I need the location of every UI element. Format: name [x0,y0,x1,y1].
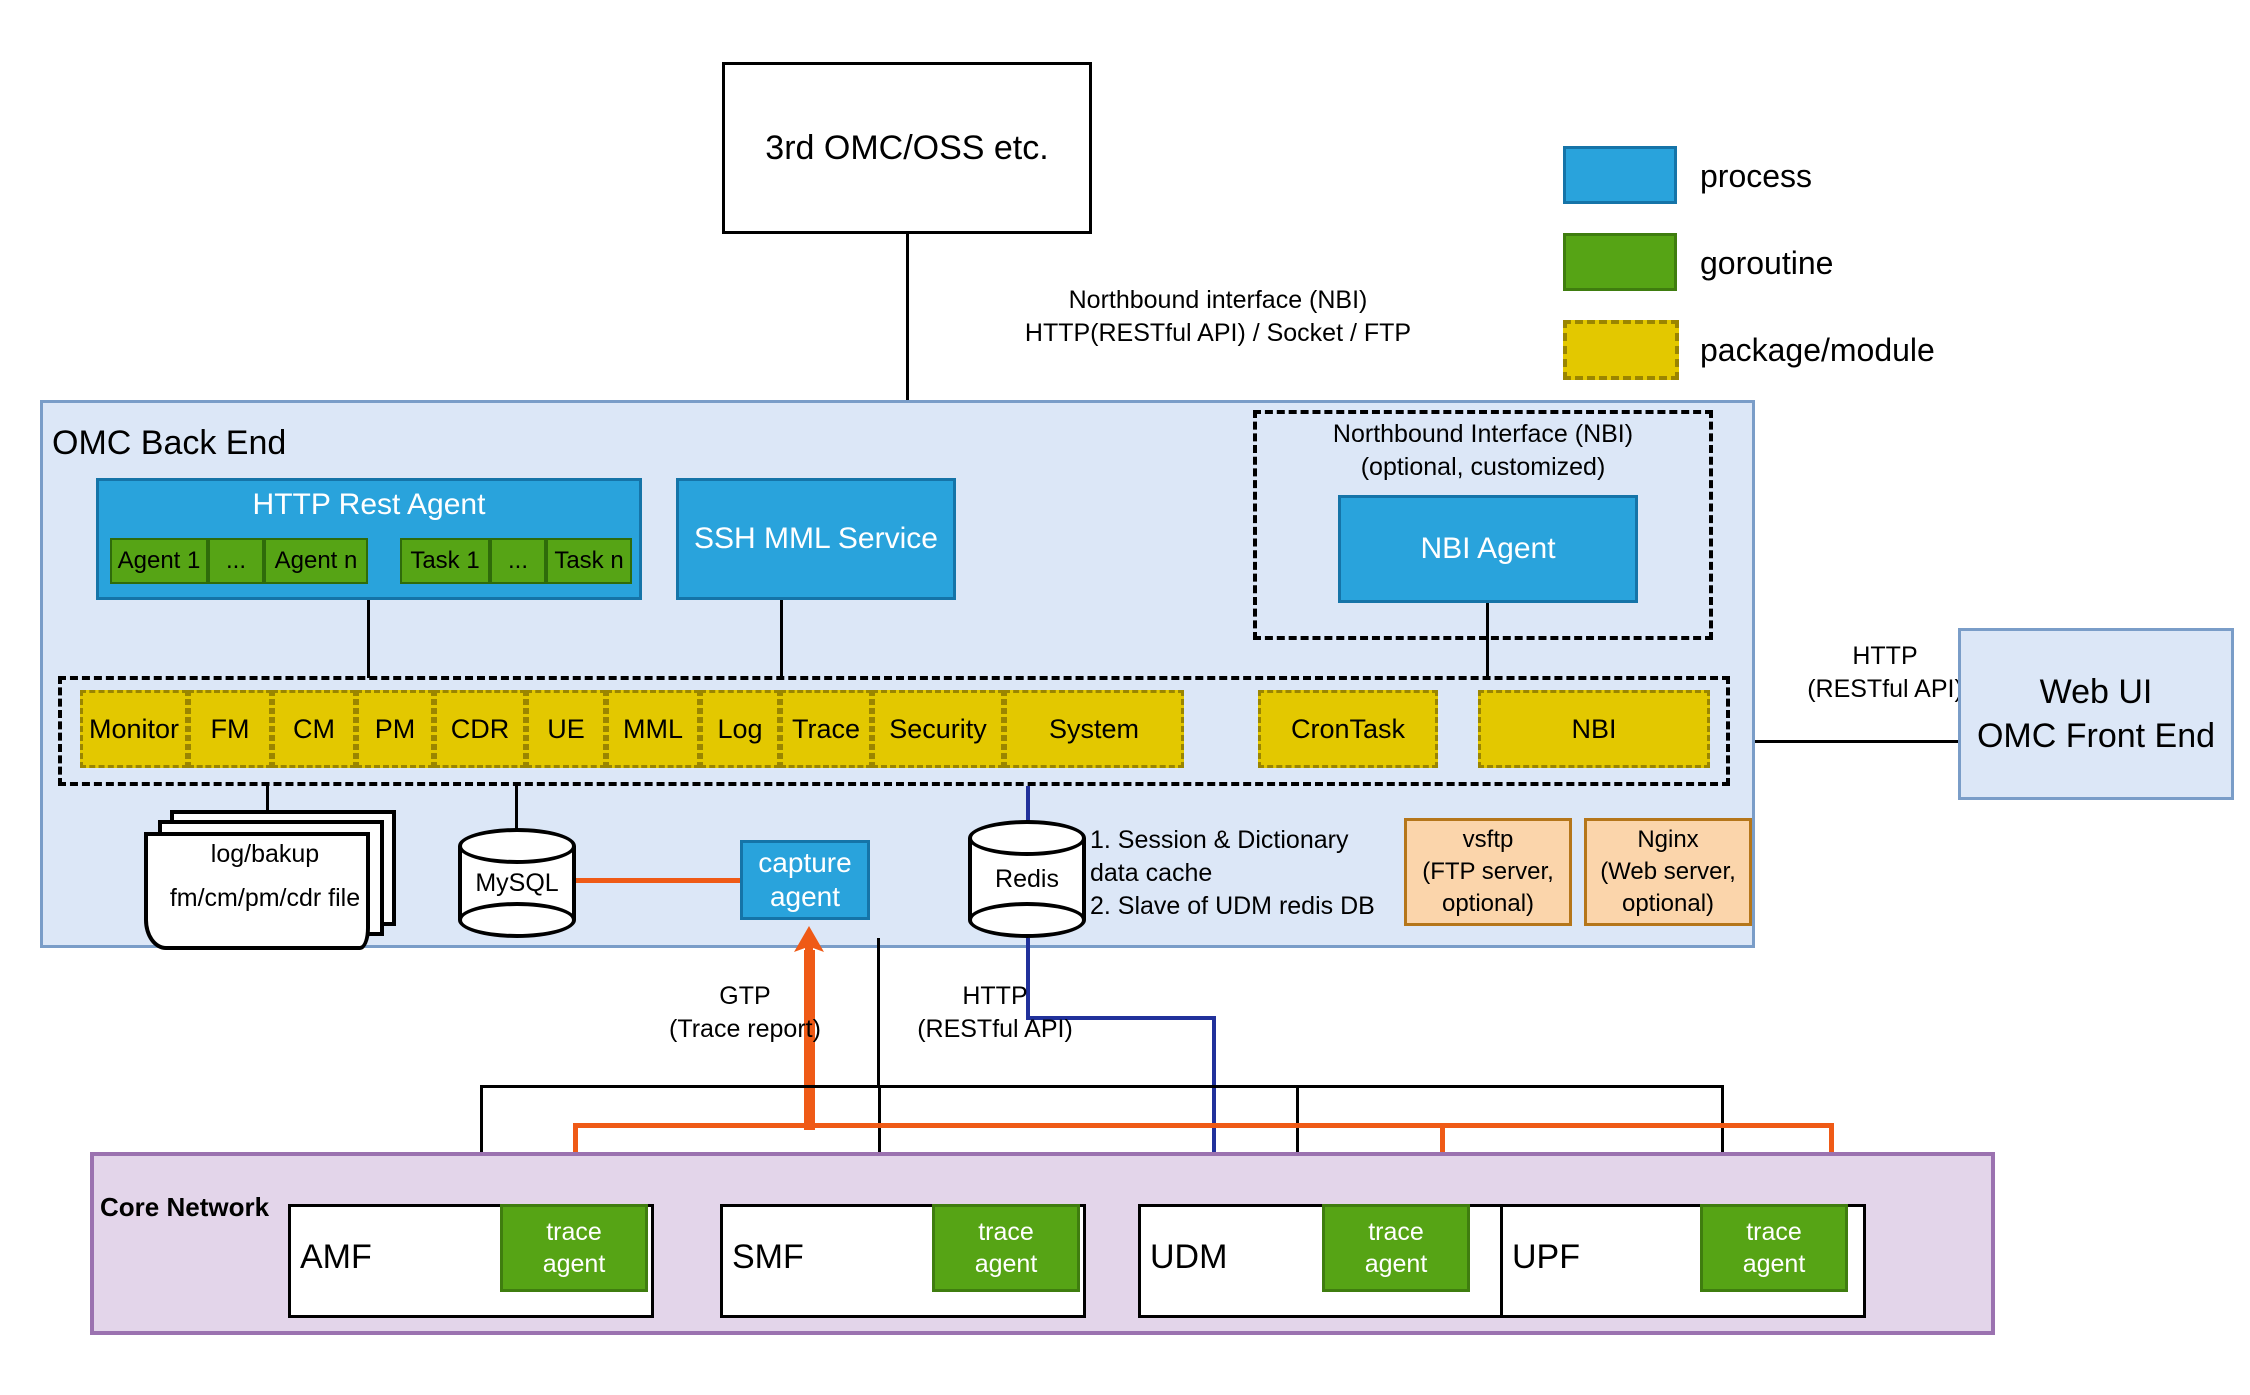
omc-back-end-title: OMC Back End [52,424,286,463]
module-trace: Trace [780,690,872,768]
redis-notes: 1. Session & Dictionary data cache 2. Sl… [1090,824,1375,923]
module-cdr: CDR [434,690,526,768]
redis-label: Redis [968,820,1086,938]
module-cm: CM [272,690,356,768]
goroutine-agent-n: Agent n [264,538,368,584]
nbi-group-label: Northbound Interface (NBI) (optional, cu… [1253,418,1713,484]
vsftp-line3: optional) [1442,888,1534,920]
core-node-udm-label: UDM [1150,1238,1227,1277]
nginx-server-box: Nginx (Web server, optional) [1584,818,1752,926]
core-node-smf-label: SMF [732,1238,804,1277]
gtp-link-label: GTP (Trace report) [640,980,850,1046]
log-backup-line2: fm/cm/pm/cdr file [170,876,360,920]
legend-label-process: process [1700,156,1812,196]
goroutine-agent-ellipsis: ... [208,538,264,584]
connector-nbiagent-to-modules [1486,603,1489,678]
trace-agent-udm: trace agent [1322,1204,1470,1292]
module-nbi: NBI [1478,690,1710,768]
connector-oss-to-backend [906,234,909,404]
module-pm: PM [356,690,434,768]
vsftp-line1: vsftp [1463,824,1514,856]
third-party-omc-oss-box: 3rd OMC/OSS etc. [722,62,1092,234]
connector-mysql-to-capture-agent [576,878,744,883]
legend-swatch-goroutine [1563,233,1677,291]
nbi-link-label: Northbound interface (NBI) HTTP(RESTful … [978,284,1458,350]
third-party-omc-oss-label: 3rd OMC/OSS etc. [765,129,1048,168]
log-backup-files: log/bakup fm/cm/pm/cdr file [140,810,390,946]
module-fm: FM [188,690,272,768]
goroutine-agent-1: Agent 1 [110,538,208,584]
nbi-agent-box: NBI Agent [1338,495,1638,603]
legend-swatch-process [1563,146,1677,204]
core-node-amf-label: AMF [300,1238,372,1277]
capture-agent-box: capture agent [740,840,870,920]
mysql-database: MySQL [458,828,576,938]
nginx-line3: optional) [1622,888,1714,920]
capture-agent-line1: capture [758,846,851,880]
log-backup-text: log/bakup fm/cm/pm/cdr file [140,832,390,920]
module-crontask: CronTask [1258,690,1438,768]
module-mml: MML [606,690,700,768]
legend-swatch-module [1563,320,1679,380]
connector-restagent-to-modules [367,600,370,678]
module-system: System [1004,690,1184,768]
black-bus-horizontal [480,1085,1724,1088]
ssh-mml-service-box: SSH MML Service [676,478,956,600]
mysql-label: MySQL [458,828,576,938]
vsftp-server-box: vsftp (FTP server, optional) [1404,818,1572,926]
http-link-label: HTTP (RESTful API) [880,980,1110,1046]
module-security: Security [872,690,1004,768]
web-ui-line2: OMC Front End [1977,714,2215,758]
goroutine-task-ellipsis: ... [490,538,546,584]
legend-label-module: package/module [1700,330,1935,370]
goroutine-task-n: Task n [546,538,632,584]
vsftp-line2: (FTP server, [1422,856,1554,888]
module-ue: UE [526,690,606,768]
redis-database: Redis [968,820,1086,938]
module-monitor: Monitor [80,690,188,768]
trace-agent-upf: trace agent [1700,1204,1848,1292]
trace-agent-smf: trace agent [932,1204,1080,1292]
diagram-canvas: 3rd OMC/OSS etc. Northbound interface (N… [0,0,2250,1395]
capture-agent-line2: agent [770,880,840,914]
orange-bus-horizontal [573,1123,1833,1128]
trace-agent-amf: trace agent [500,1204,648,1292]
goroutine-task-1: Task 1 [400,538,490,584]
web-ui-line1: Web UI [2040,670,2153,714]
log-backup-line1: log/bakup [211,832,319,876]
connector-sshmml-to-modules [780,600,783,678]
nginx-line2: (Web server, [1600,856,1736,888]
redis-note-2: data cache [1090,857,1375,890]
core-network-title: Core Network [100,1192,269,1223]
web-ui-box: Web UI OMC Front End [1958,628,2234,800]
nginx-line1: Nginx [1637,824,1698,856]
module-log: Log [700,690,780,768]
redis-note-1: 1. Session & Dictionary [1090,824,1375,857]
core-node-upf-label: UPF [1512,1238,1580,1277]
http-rest-agent-title: HTTP Rest Agent [96,482,642,528]
legend-label-goroutine: goroutine [1700,243,1833,283]
redis-note-3: 2. Slave of UDM redis DB [1090,890,1375,923]
